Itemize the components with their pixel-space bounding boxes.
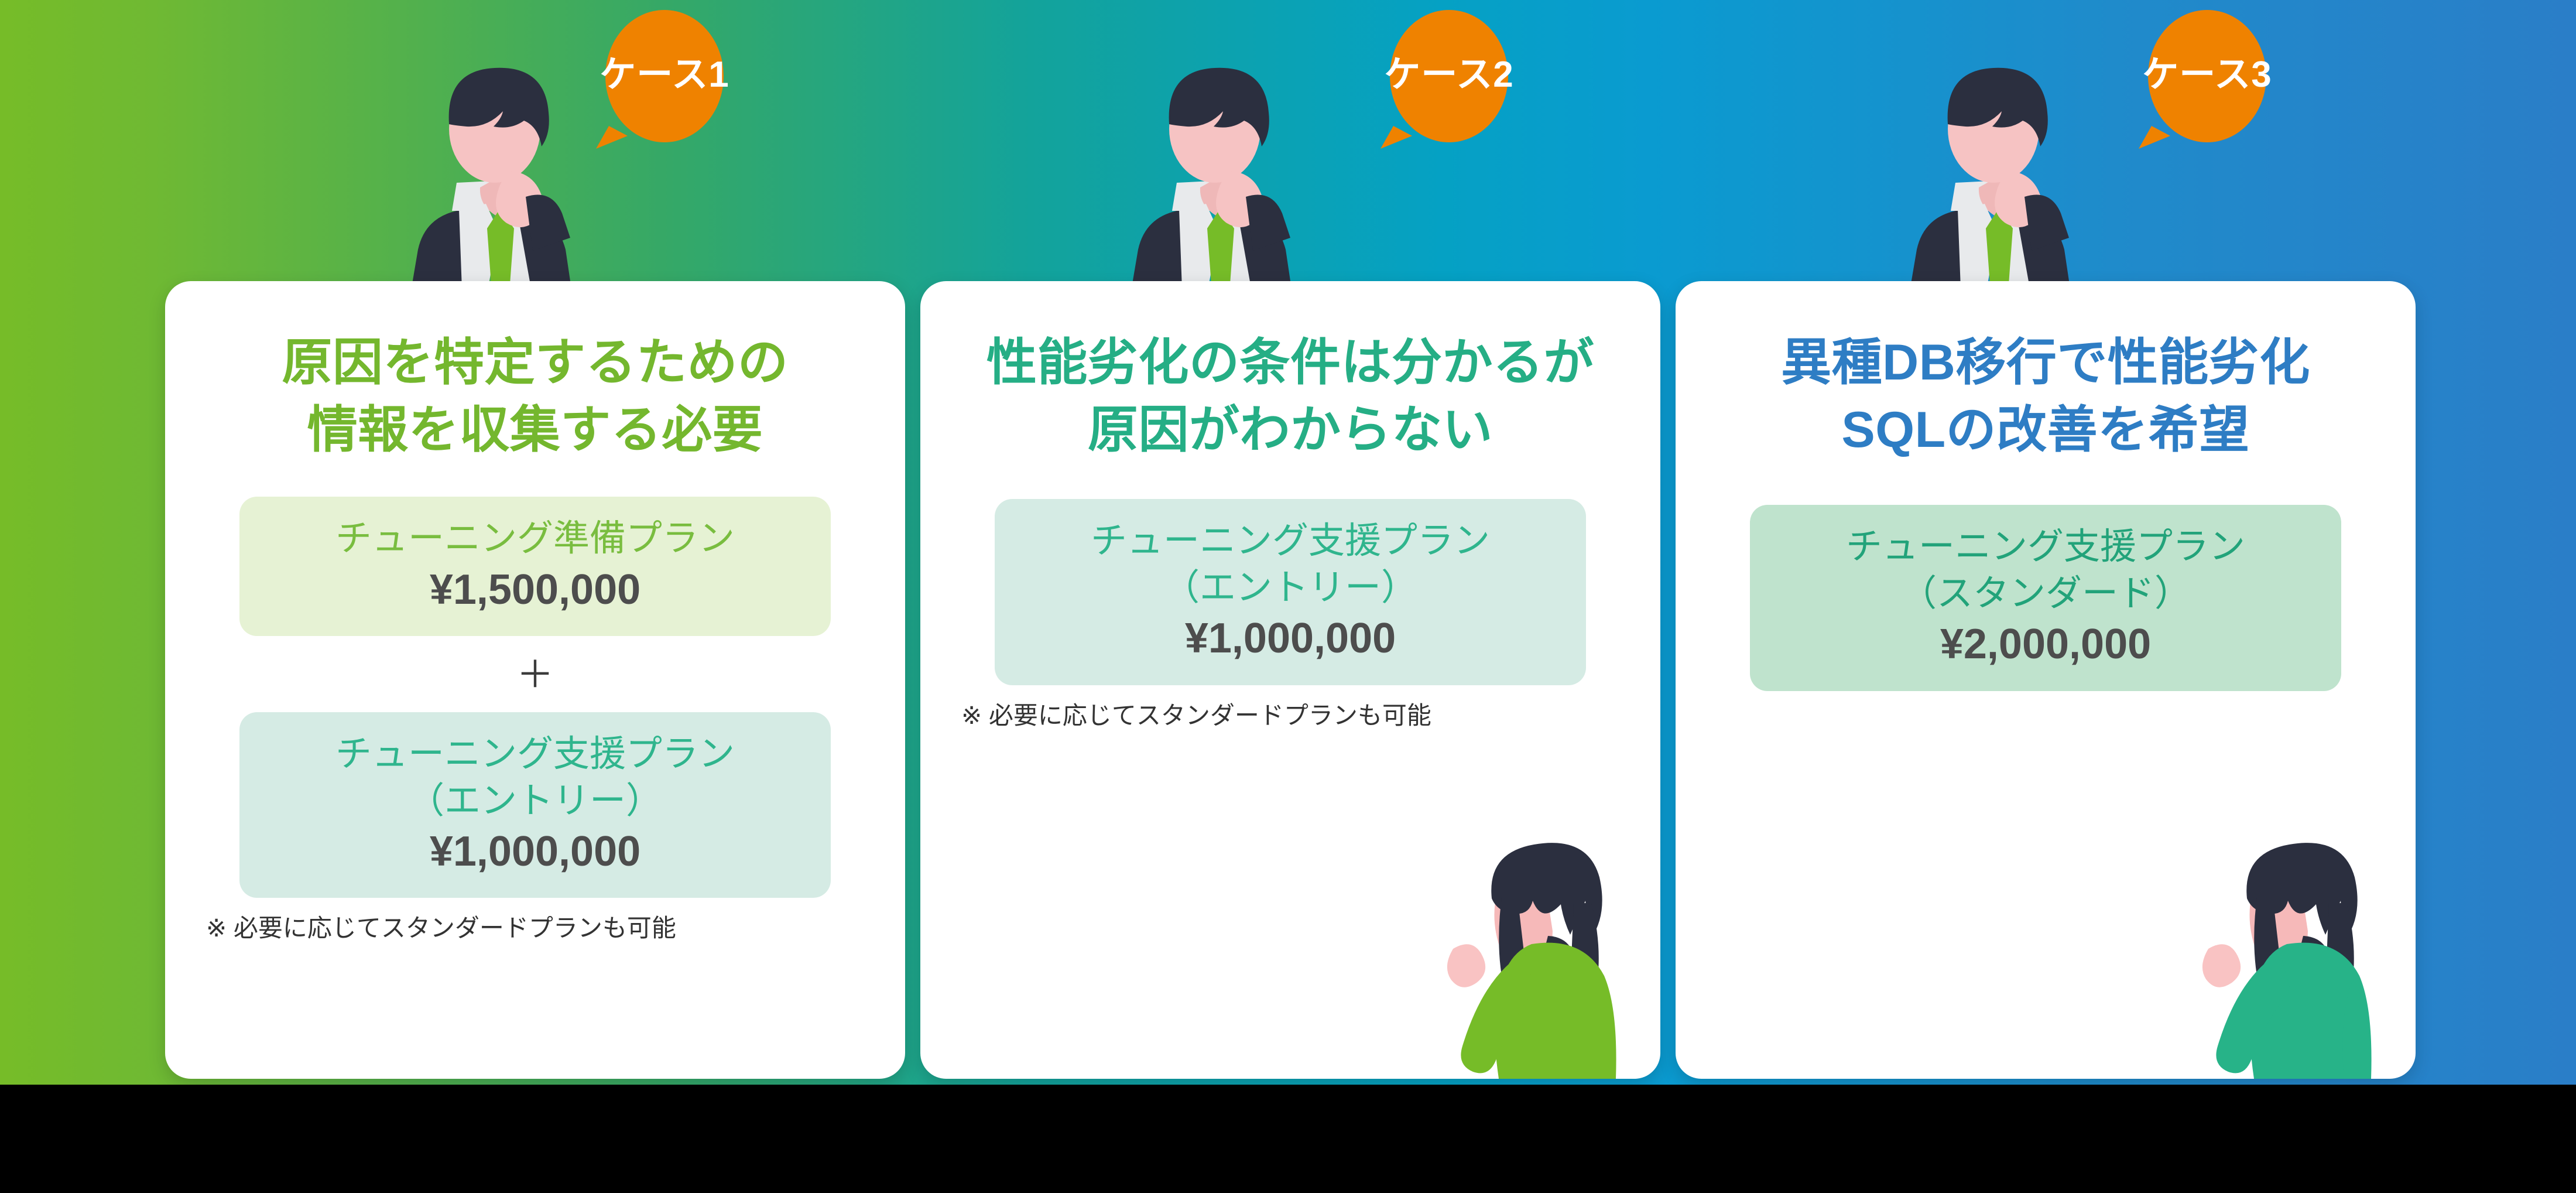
- gradient-banner: ケース1 ケース2 ケース3 原因を特定するための 情報を収集する必要: [0, 0, 2576, 1085]
- case-card-title-1: 原因を特定するための 情報を収集する必要: [200, 329, 870, 464]
- case-card-title-line2: SQLの改善を希望: [1711, 396, 2380, 464]
- plan-name-sub: （エントリー）: [1006, 565, 1574, 611]
- case-card-title-2: 性能劣化の条件は分かるが 原因がわからない: [955, 329, 1625, 464]
- plan-name: チューニング支援プラン: [1762, 524, 2330, 570]
- businessman-illustration-3: [1885, 35, 2108, 305]
- plan-price: ¥2,000,000: [1762, 619, 2330, 669]
- plan-price: ¥1,000,000: [251, 826, 819, 877]
- case-card-3[interactable]: 異種DB移行で性能劣化 SQLの改善を希望 チューニング支援プラン （スタンダー…: [1676, 281, 2416, 1079]
- case-badge-2: ケース2: [1376, 6, 1522, 152]
- plan-box-support-entry[interactable]: チューニング支援プラン （エントリー） ¥1,000,000: [995, 499, 1586, 685]
- case-badge-label-3: ケース3: [2134, 0, 2280, 144]
- woman-illustration-green: [1421, 827, 1638, 1079]
- plan-name: チューニング支援プラン: [1006, 518, 1574, 564]
- plan-note-2: ※ 必要に応じてスタンダードプランも可能: [961, 696, 1625, 731]
- case-card-title-line1: 性能劣化の条件は分かるが: [955, 329, 1625, 396]
- plan-box-preparation[interactable]: チューニング準備プラン ¥1,500,000: [239, 497, 831, 636]
- businessman-illustration-2: [1107, 35, 1329, 305]
- plan-name: チューニング支援プラン: [251, 731, 819, 777]
- case-card-title-line1: 原因を特定するための: [200, 329, 870, 396]
- businessman-illustration-1: [386, 35, 609, 305]
- case-badge-1: ケース1: [591, 6, 738, 152]
- plan-name-sub: （スタンダード）: [1762, 570, 2330, 617]
- plan-name: チューニング準備プラン: [251, 515, 819, 562]
- case-card-title-line1: 異種DB移行で性能劣化: [1711, 329, 2380, 396]
- plan-box-support-entry[interactable]: チューニング支援プラン （エントリー） ¥1,000,000: [239, 712, 831, 898]
- plan-note-1: ※ 必要に応じてスタンダードプランも可能: [206, 908, 870, 944]
- case-card-1[interactable]: 原因を特定するための 情報を収集する必要 チューニング準備プラン ¥1,500,…: [165, 281, 905, 1079]
- case-card-2[interactable]: 性能劣化の条件は分かるが 原因がわからない チューニング支援プラン （エントリー…: [920, 281, 1660, 1079]
- plan-name-sub: （エントリー）: [251, 778, 819, 824]
- plan-price: ¥1,500,000: [251, 565, 819, 615]
- woman-illustration-teal: [2177, 827, 2393, 1079]
- case-card-title-line2: 情報を収集する必要: [200, 396, 870, 464]
- plan-connector-plus: ＋: [200, 656, 870, 693]
- case-badge-label-1: ケース1: [591, 0, 738, 144]
- case-card-title-3: 異種DB移行で性能劣化 SQLの改善を希望: [1711, 329, 2380, 464]
- case-card-title-line2: 原因がわからない: [955, 396, 1625, 464]
- case-badge-3: ケース3: [2134, 6, 2280, 152]
- screenshot-root: ケース1 ケース2 ケース3 原因を特定するための 情報を収集する必要: [0, 0, 2576, 1193]
- case-badge-label-2: ケース2: [1376, 0, 1522, 144]
- plan-box-support-standard[interactable]: チューニング支援プラン （スタンダード） ¥2,000,000: [1750, 505, 2341, 690]
- plan-price: ¥1,000,000: [1006, 613, 1574, 664]
